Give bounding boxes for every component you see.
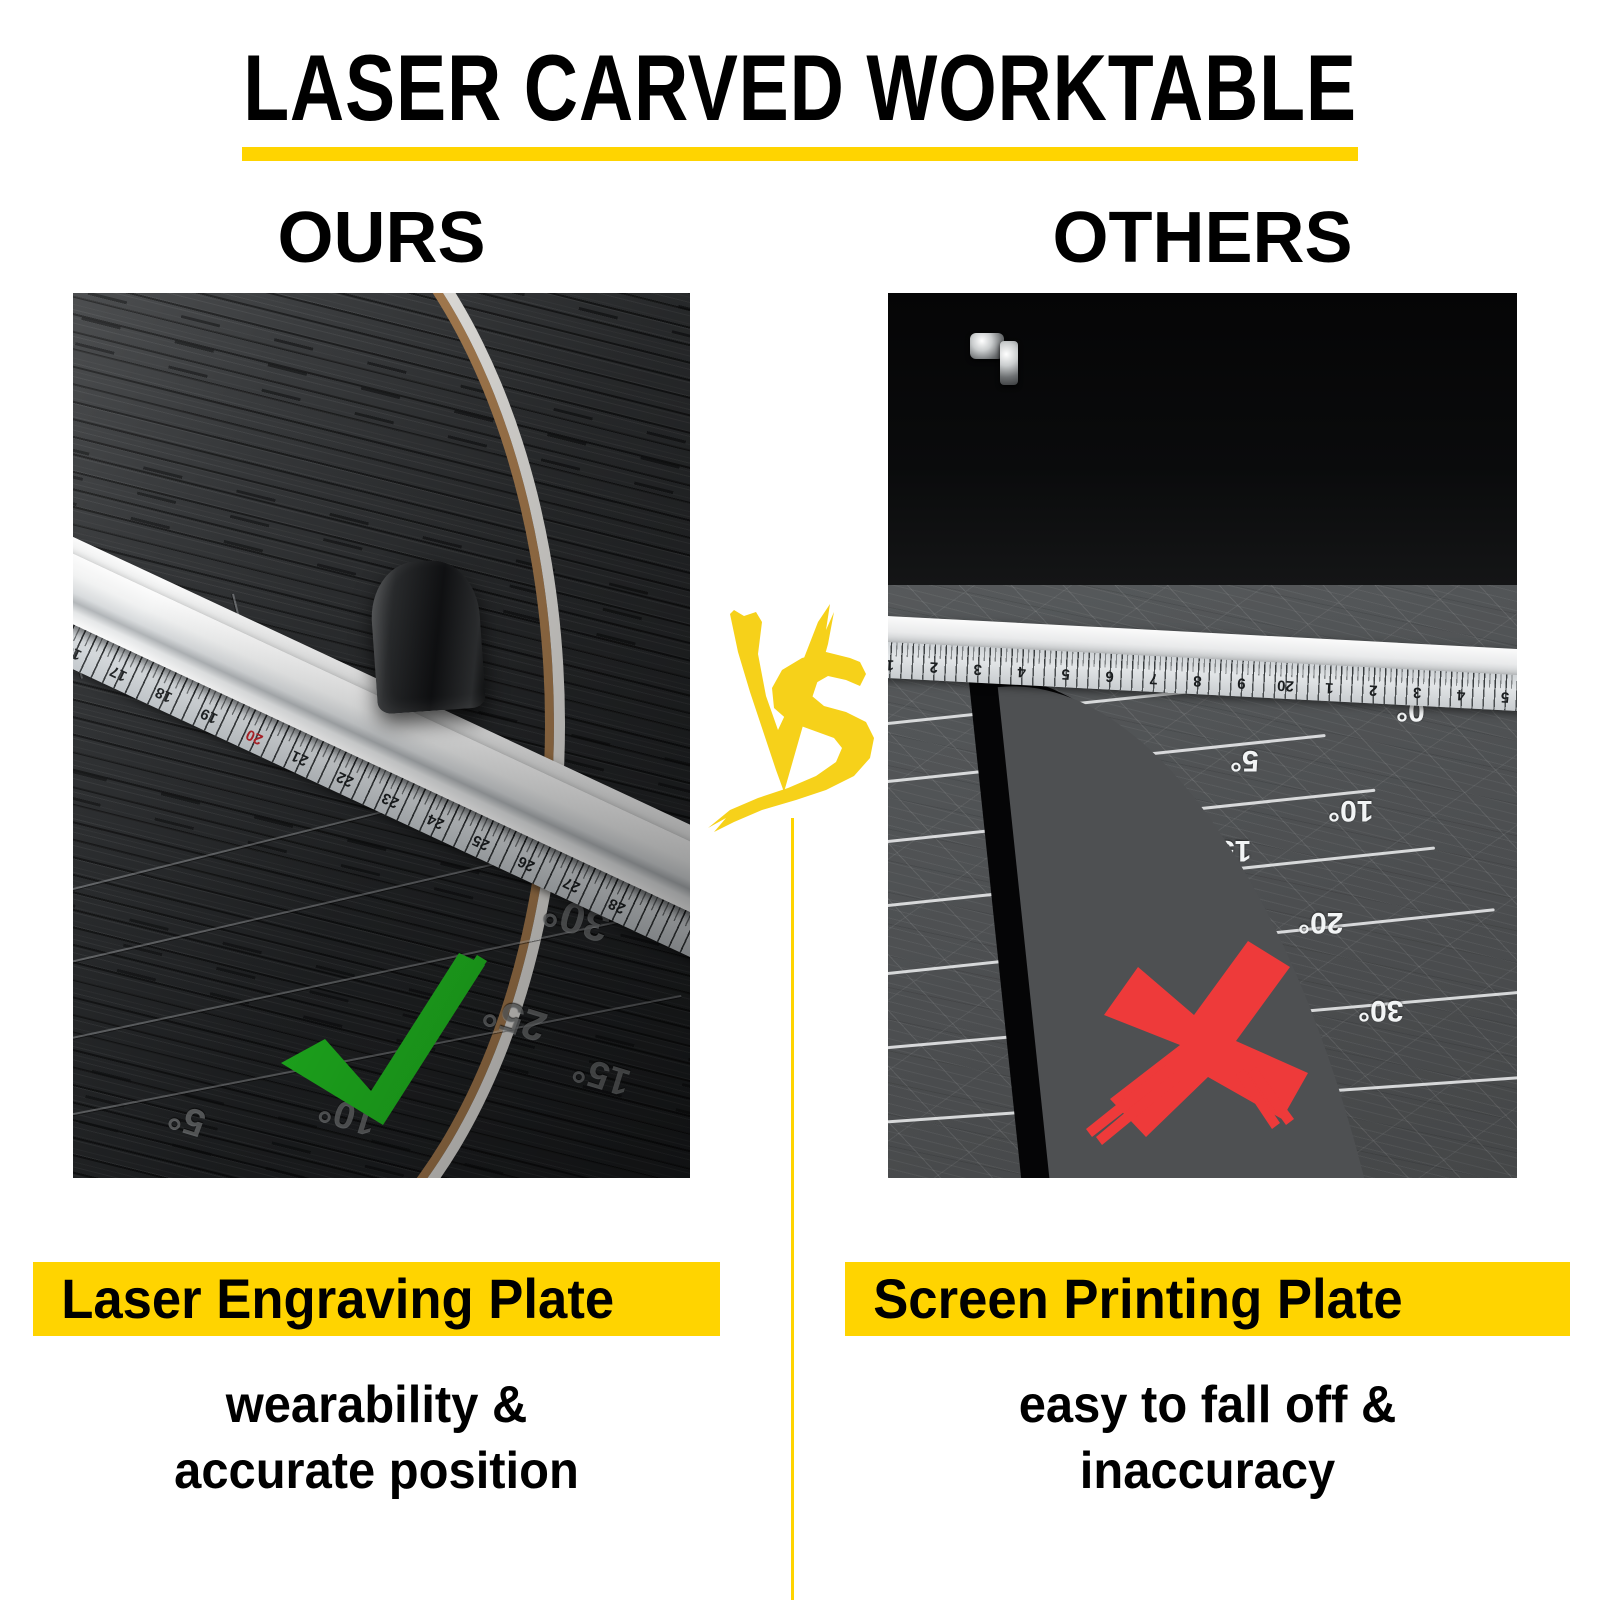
caption-others-line1: easy to fall off & bbox=[867, 1372, 1549, 1438]
ruler-number: 5 bbox=[1500, 688, 1509, 705]
comparison-graphic: LASER CARVED WORKTABLE OURS OTHERS 30° 2… bbox=[0, 0, 1600, 1600]
label-band-ours: Laser Engraving Plate bbox=[33, 1262, 720, 1336]
photo-others: 0° 5° 10° 15° 20° 25° 30° 35° 1 2 3 4 5 … bbox=[888, 293, 1517, 1178]
label-band-others: Screen Printing Plate bbox=[845, 1262, 1570, 1336]
vertical-divider-line bbox=[791, 818, 794, 1600]
photo-lighting-overlay bbox=[73, 293, 690, 1178]
ruler-number: 6 bbox=[1105, 667, 1114, 684]
caption-others-line2: inaccuracy bbox=[867, 1438, 1549, 1504]
column-heading-ours: OURS bbox=[73, 198, 690, 278]
column-heading-others: OTHERS bbox=[888, 198, 1517, 278]
title-underline-bar bbox=[242, 147, 1358, 161]
printed-angle-label: 5° bbox=[1230, 743, 1259, 777]
ruler-number: 2 bbox=[929, 658, 938, 675]
caption-ours-line1: wearability & bbox=[54, 1372, 700, 1438]
ruler-number: 4 bbox=[1017, 663, 1026, 680]
ruler-number: 2 bbox=[1369, 681, 1378, 698]
printed-angle-label: 10° bbox=[1328, 793, 1373, 827]
bolt-head-icon bbox=[970, 333, 1004, 359]
printed-angle-label: 30° bbox=[1358, 993, 1403, 1027]
label-band-others-text: Screen Printing Plate bbox=[845, 1269, 1403, 1329]
caption-others: easy to fall off & inaccuracy bbox=[845, 1372, 1570, 1504]
photo-ours: 30° 25° 15° 10° 5° 16 17 18 19 20 21 22 … bbox=[73, 293, 690, 1178]
cross-icon bbox=[1076, 923, 1336, 1163]
ruler-number: 3 bbox=[1413, 684, 1422, 701]
ruler-number: 8 bbox=[1193, 672, 1202, 689]
caption-ours-line2: accurate position bbox=[54, 1438, 700, 1504]
ruler-number: 3 bbox=[973, 661, 982, 678]
caption-ours: wearability & accurate position bbox=[33, 1372, 720, 1504]
ruler-number: 7 bbox=[1149, 670, 1158, 687]
bolt-shaft-icon bbox=[1000, 341, 1018, 385]
ruler-number: 20 bbox=[1277, 676, 1295, 694]
page-title: LASER CARVED WORKTABLE bbox=[160, 38, 1440, 138]
ruler-number: 5 bbox=[1061, 665, 1070, 682]
label-band-ours-text: Laser Engraving Plate bbox=[33, 1269, 614, 1329]
ruler-number: 9 bbox=[1237, 674, 1246, 691]
ruler-number: 1 bbox=[1325, 679, 1334, 696]
vs-badge: VS bbox=[700, 596, 890, 836]
ruler-number: 4 bbox=[1457, 686, 1466, 703]
